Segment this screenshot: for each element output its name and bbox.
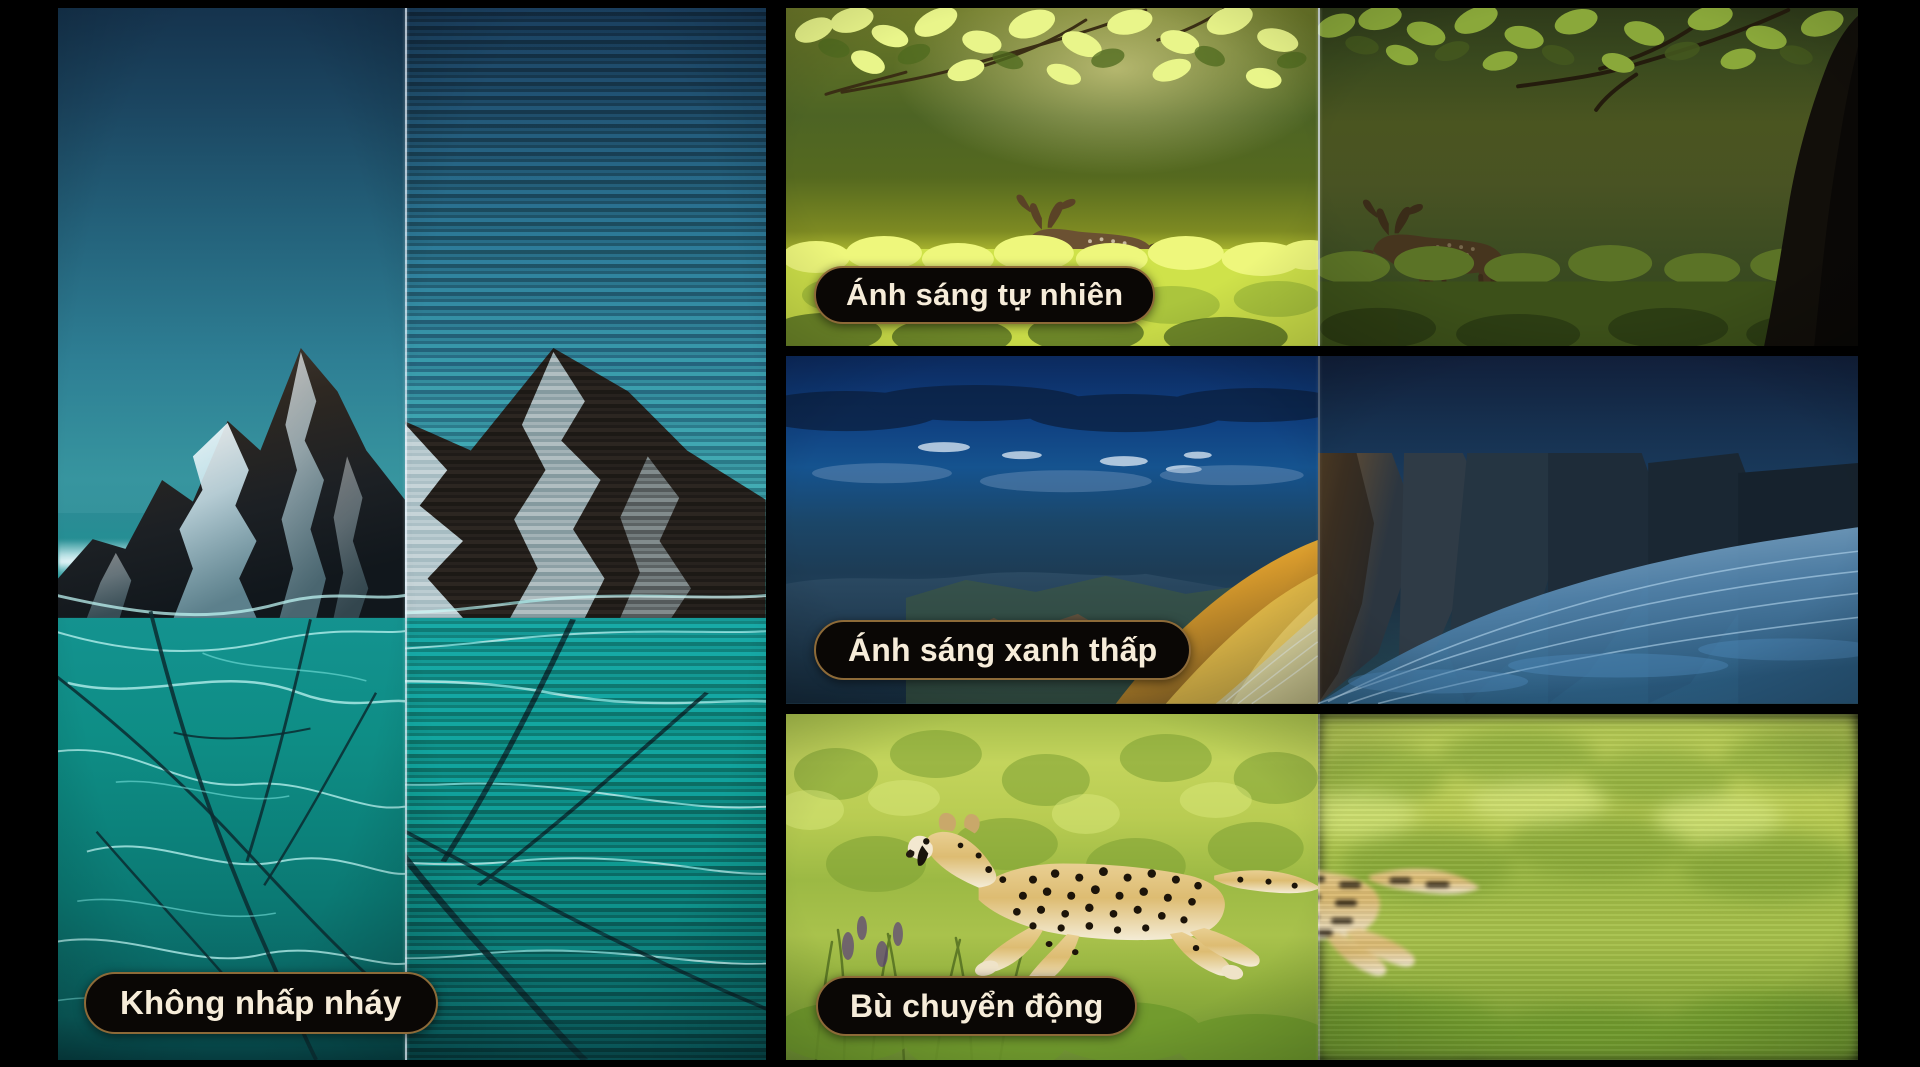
comparison-divider-bluelight[interactable] — [1318, 356, 1320, 704]
panel-motion-compensation[interactable]: Bù chuyển động — [786, 714, 1858, 1060]
cheetah-motion-blurred — [1318, 783, 1577, 1004]
panel-flicker-free[interactable]: Không nhấp nháy — [58, 8, 766, 1060]
standard-blue-half — [1318, 356, 1858, 704]
label-khong-nhap-nhay[interactable]: Không nhấp nháy — [84, 972, 438, 1034]
panel-low-blue-light[interactable]: Ánh sáng xanh thấp — [786, 356, 1858, 704]
comparison-divider-natural[interactable] — [1318, 8, 1320, 346]
leaf-canopy-bright — [786, 8, 1318, 163]
panel-natural-light[interactable]: Ánh sáng tự nhiên — [786, 8, 1858, 346]
feature-showcase-stage: Không nhấp nháy — [0, 0, 1920, 1067]
flicker-free-half — [58, 8, 405, 1060]
flickering-half — [405, 8, 766, 1060]
label-bu-chuyen-dong[interactable]: Bù chuyển động — [816, 976, 1137, 1036]
cheetah-sharp — [882, 783, 1318, 1004]
label-anh-sang-xanh-thap[interactable]: Ánh sáng xanh thấp — [814, 620, 1191, 680]
standard-dim-half — [1318, 8, 1858, 346]
comparison-divider-flicker[interactable] — [405, 8, 407, 1060]
label-anh-sang-tu-nhien[interactable]: Ánh sáng tự nhiên — [814, 266, 1155, 324]
comparison-divider-motion[interactable] — [1318, 714, 1320, 1060]
cloud-layer-left — [786, 377, 1318, 502]
glacier-ice-scene — [58, 8, 766, 1060]
mountain-rocks-right — [1318, 453, 1858, 704]
motion-blurred-half — [1318, 714, 1858, 1060]
tree-trunk-silhouette — [1728, 8, 1858, 346]
ice-crack-lines-right — [405, 534, 766, 1060]
